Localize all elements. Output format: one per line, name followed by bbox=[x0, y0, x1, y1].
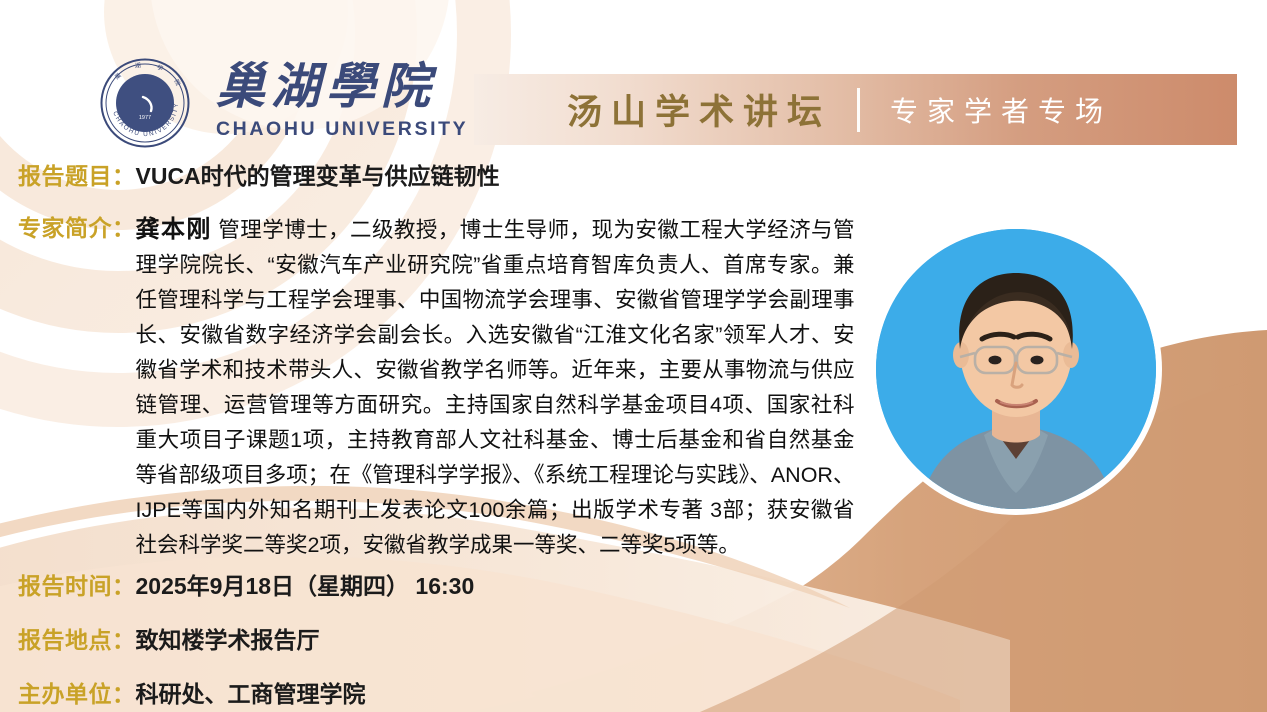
university-name-cn: 巢湖學院 bbox=[216, 58, 456, 116]
report-title-value: VUCA时代的管理变革与供应链韧性 bbox=[136, 160, 500, 192]
report-place-value: 致知楼学术报告厅 bbox=[136, 624, 320, 656]
report-host-label: 主办单位： bbox=[18, 678, 136, 710]
speaker-bio-paragraph: 管理学博士，二级教授，博士生导师，现为安徽工程大学经济与管理学院院长、“安徽汽车… bbox=[136, 218, 855, 557]
report-title-label: 报告题目： bbox=[18, 160, 136, 192]
report-time-value: 2025年9月18日（星期四） 16:30 bbox=[136, 570, 475, 602]
chaohu-university-seal-icon: 1977 CHAOHU UNIVERSITY 巢 湖 学 院 bbox=[99, 57, 191, 149]
speaker-name: 龚本刚 bbox=[136, 216, 212, 243]
university-name-block: 巢湖學院 CHAOHU UNIVERSITY bbox=[216, 58, 456, 150]
speaker-bio-label: 专家简介： bbox=[18, 212, 136, 244]
report-host-row: 主办单位： 科研处、工商管理学院 bbox=[18, 678, 366, 710]
report-host-value: 科研处、工商管理学院 bbox=[136, 678, 366, 710]
report-time-label: 报告时间： bbox=[18, 570, 136, 602]
forum-banner-title: 汤山学术讲坛 bbox=[567, 84, 831, 135]
university-name-en: CHAOHU UNIVERSITY bbox=[216, 118, 456, 140]
poster-header: 1977 CHAOHU UNIVERSITY 巢 湖 学 院 巢湖學院 CHAO… bbox=[0, 0, 1267, 152]
seal-svg: 1977 CHAOHU UNIVERSITY 巢 湖 学 院 bbox=[99, 57, 191, 149]
report-title-row: 报告题目： VUCA时代的管理变革与供应链韧性 bbox=[18, 160, 500, 192]
report-place-row: 报告地点： 致知楼学术报告厅 bbox=[18, 624, 320, 656]
report-time-row: 报告时间： 2025年9月18日（星期四） 16:30 bbox=[18, 570, 474, 602]
speaker-bio-row: 专家简介： 龚本刚 管理学博士，二级教授，博士生导师，现为安徽工程大学经济与管理… bbox=[18, 212, 878, 563]
svg-text:1977: 1977 bbox=[139, 115, 151, 121]
speaker-portrait bbox=[876, 229, 1156, 509]
forum-banner: 汤山学术讲坛 专家学者专场 bbox=[474, 74, 1237, 145]
speaker-bio-text: 龚本刚 管理学博士，二级教授，博士生导师，现为安徽工程大学经济与管理学院院长、“… bbox=[136, 212, 855, 563]
portrait-illustration bbox=[876, 229, 1156, 509]
forum-banner-divider bbox=[857, 88, 860, 132]
poster-canvas: 1977 CHAOHU UNIVERSITY 巢 湖 学 院 巢湖學院 CHAO… bbox=[0, 0, 1267, 712]
report-place-label: 报告地点： bbox=[18, 624, 136, 656]
forum-banner-subtitle: 专家学者专场 bbox=[890, 90, 1112, 130]
